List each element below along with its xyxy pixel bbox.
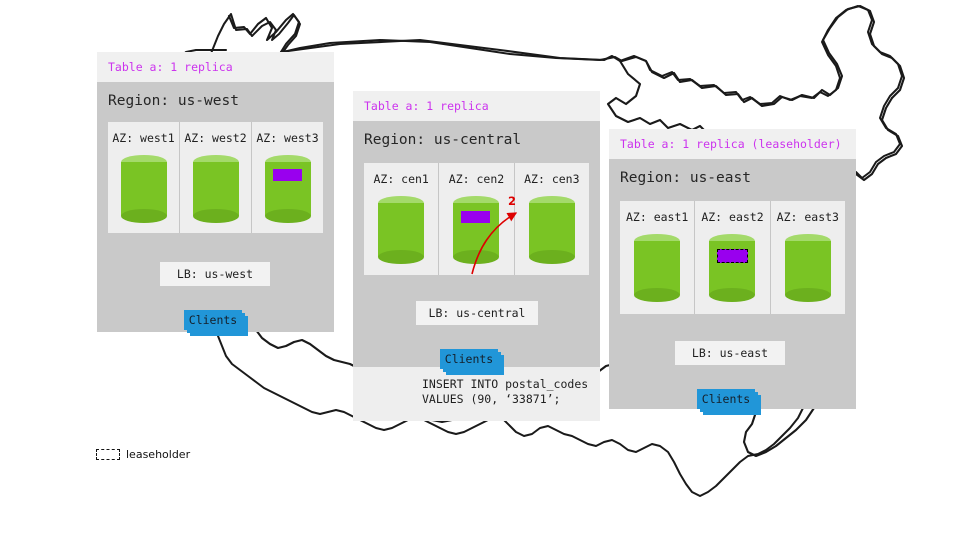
cylinder-bottom-east2 xyxy=(709,288,755,302)
clients-label-us-west: Clients xyxy=(189,313,237,327)
az-label-west2: AZ: west2 xyxy=(184,131,246,145)
cylinder-body-cen1 xyxy=(378,203,424,257)
node-cylinder-cen3[interactable] xyxy=(529,196,575,264)
sql-statement-us-central: INSERT INTO postal_codes VALUES (90, ‘33… xyxy=(422,377,588,407)
lb-label-us-west: LB: us-west xyxy=(177,267,253,281)
node-cylinder-cen2[interactable] xyxy=(453,196,499,264)
az-cell-west3[interactable]: AZ: west3 xyxy=(251,122,323,233)
dashed-rect-swatch-icon xyxy=(96,449,120,460)
map-great-lakes xyxy=(608,61,726,136)
cylinder-body-cen3 xyxy=(529,203,575,257)
legend-label: leaseholder xyxy=(126,448,190,461)
map-northeast xyxy=(782,6,904,100)
node-cylinder-east1[interactable] xyxy=(634,234,680,302)
cylinder-bottom-cen1 xyxy=(378,250,424,264)
cylinder-body-west2 xyxy=(193,162,239,216)
az-label-cen1: AZ: cen1 xyxy=(373,172,428,186)
node-cylinder-cen1[interactable] xyxy=(378,196,424,264)
panel-body-us-central: Region: us-central AZ: cen1 AZ: cen2 xyxy=(353,121,600,367)
cylinder-body-east1 xyxy=(634,241,680,295)
cylinder-body-east3 xyxy=(785,241,831,295)
region-panel-us-west[interactable]: Table a: 1 replica Region: us-west AZ: w… xyxy=(97,52,334,332)
load-balancer-us-west[interactable]: LB: us-west xyxy=(160,262,270,286)
clients-label-us-east: Clients xyxy=(702,392,750,406)
az-cell-east3[interactable]: AZ: east3 xyxy=(770,201,845,314)
region-title-us-west: Region: us-west xyxy=(97,82,334,109)
cylinder-bottom-west1 xyxy=(121,209,167,223)
region-title-us-central: Region: us-central xyxy=(353,121,600,148)
panel-body-us-west: Region: us-west AZ: west1 AZ: west2 xyxy=(97,82,334,332)
az-label-cen3: AZ: cen3 xyxy=(524,172,579,186)
az-label-east3: AZ: east3 xyxy=(777,210,839,224)
load-balancer-us-east[interactable]: LB: us-east xyxy=(675,341,785,365)
load-balancer-us-central[interactable]: LB: us-central xyxy=(416,301,538,325)
panel-header-us-central: Table a: 1 replica xyxy=(353,91,600,121)
az-label-west3: AZ: west3 xyxy=(256,131,318,145)
panel-header-us-east: Table a: 1 replica (leaseholder) xyxy=(609,129,856,159)
arrow-step-number-2: 2 xyxy=(508,194,516,208)
az-strip-us-east: AZ: east1 AZ: east2 xyxy=(620,201,845,314)
cylinder-bottom-west3 xyxy=(265,209,311,223)
region-panel-us-east[interactable]: Table a: 1 replica (leaseholder) Region:… xyxy=(609,129,856,409)
region-title-us-east: Region: us-east xyxy=(609,159,856,186)
az-strip-us-west: AZ: west1 AZ: west2 AZ xyxy=(108,122,323,233)
az-cell-west1[interactable]: AZ: west1 xyxy=(108,122,179,233)
lb-label-us-east: LB: us-east xyxy=(692,346,768,360)
az-cell-west2[interactable]: AZ: west2 xyxy=(179,122,251,233)
legend: leaseholder xyxy=(96,448,190,461)
clients-sheet-front-us-central[interactable]: Clients xyxy=(440,349,498,369)
node-cylinder-east2[interactable] xyxy=(709,234,755,302)
clients-label-us-central: Clients xyxy=(445,352,493,366)
lb-label-us-central: LB: us-central xyxy=(429,306,526,320)
replica-block-leaseholder-east2[interactable] xyxy=(717,249,748,263)
map-northwest xyxy=(229,14,299,52)
cylinder-bottom-east1 xyxy=(634,288,680,302)
node-cylinder-east3[interactable] xyxy=(785,234,831,302)
cylinder-bottom-east3 xyxy=(785,288,831,302)
az-cell-east1[interactable]: AZ: east1 xyxy=(620,201,694,314)
az-label-east1: AZ: east1 xyxy=(626,210,688,224)
sql-footer-us-central: INSERT INTO postal_codes VALUES (90, ‘33… xyxy=(353,367,600,421)
panel-body-us-east: Region: us-east AZ: east1 AZ: east2 xyxy=(609,159,856,409)
az-label-west1: AZ: west1 xyxy=(112,131,174,145)
panel-header-us-west: Table a: 1 replica xyxy=(97,52,334,82)
cylinder-bottom-cen3 xyxy=(529,250,575,264)
az-cell-cen2[interactable]: AZ: cen2 xyxy=(438,163,513,275)
replica-block-cen2[interactable] xyxy=(461,211,490,223)
clients-sheet-front-us-east[interactable]: Clients xyxy=(697,389,755,409)
az-strip-us-central: AZ: cen1 AZ: cen2 xyxy=(364,163,589,275)
clients-button-us-east[interactable]: Clients xyxy=(697,389,761,415)
clients-button-us-west[interactable]: Clients xyxy=(184,310,248,336)
cylinder-bottom-west2 xyxy=(193,209,239,223)
node-cylinder-west2[interactable] xyxy=(193,155,239,223)
cylinder-bottom-cen2 xyxy=(453,250,499,264)
az-cell-east2[interactable]: AZ: east2 xyxy=(694,201,769,314)
clients-button-us-central[interactable]: Clients xyxy=(440,349,504,375)
az-label-east2: AZ: east2 xyxy=(701,210,763,224)
node-cylinder-west3[interactable] xyxy=(265,155,311,223)
region-panel-us-central[interactable]: Table a: 1 replica Region: us-central AZ… xyxy=(353,91,600,421)
cylinder-body-west1 xyxy=(121,162,167,216)
node-cylinder-west1[interactable] xyxy=(121,155,167,223)
az-cell-cen3[interactable]: AZ: cen3 xyxy=(514,163,589,275)
az-cell-cen1[interactable]: AZ: cen1 xyxy=(364,163,438,275)
diagram-canvas: Table a: 1 replica Region: us-west AZ: w… xyxy=(0,0,960,540)
az-label-cen2: AZ: cen2 xyxy=(449,172,504,186)
replica-block-west3[interactable] xyxy=(273,169,302,181)
clients-sheet-front-us-west[interactable]: Clients xyxy=(184,310,242,330)
